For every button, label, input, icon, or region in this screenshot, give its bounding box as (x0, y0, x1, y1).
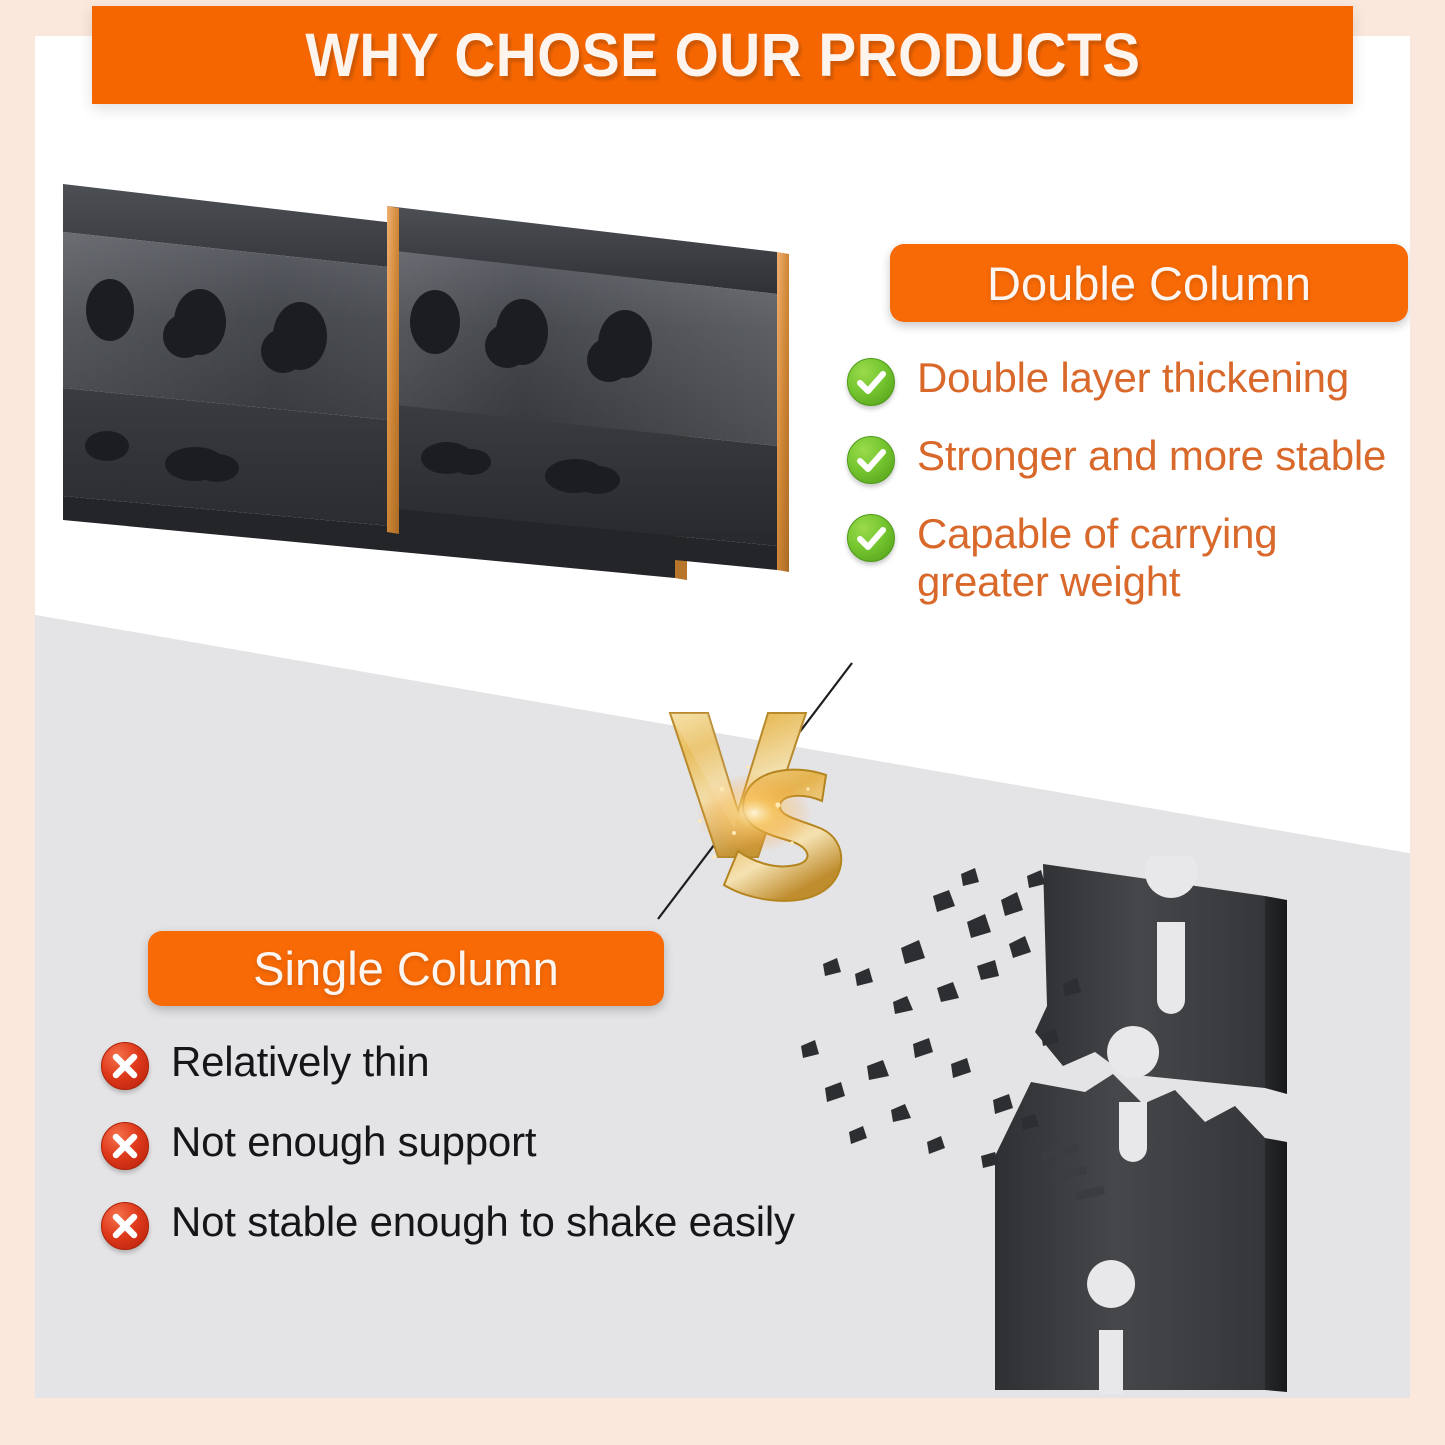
single-column-feature-list: Relatively thin Not enough support Not s… (101, 1038, 891, 1278)
list-item-label: Relatively thin (171, 1038, 429, 1086)
cross-circle-icon (101, 1122, 149, 1170)
list-item: Stronger and more stable (847, 432, 1410, 484)
check-circle-icon (847, 514, 895, 562)
list-item: Relatively thin (101, 1038, 891, 1090)
list-item: Not enough support (101, 1118, 891, 1170)
list-item-label: Not enough support (171, 1118, 536, 1166)
header-banner: WHY CHOSE OUR PRODUCTS (92, 6, 1353, 104)
list-item: Capable of carrying greater weight (847, 510, 1410, 606)
single-column-badge: Single Column (148, 931, 664, 1006)
single-column-badge-label: Single Column (253, 941, 559, 996)
double-column-steel-posts-photo (35, 146, 835, 616)
list-item-label: Double layer thickening (917, 354, 1349, 402)
double-column-feature-list: Double layer thickening Stronger and mor… (847, 354, 1410, 632)
list-item: Not stable enough to shake easily (101, 1198, 891, 1250)
page-title: WHY CHOSE OUR PRODUCTS (305, 20, 1140, 90)
double-column-badge-label: Double Column (987, 256, 1311, 311)
vs-gold-emblem (630, 661, 910, 921)
check-circle-icon (847, 436, 895, 484)
double-column-badge: Double Column (890, 244, 1408, 322)
list-item-label: Capable of carrying greater weight (917, 510, 1357, 606)
list-item: Double layer thickening (847, 354, 1410, 406)
list-item-label: Not stable enough to shake easily (171, 1198, 795, 1246)
check-circle-icon (847, 358, 895, 406)
cross-circle-icon (101, 1042, 149, 1090)
list-item-label: Stronger and more stable (917, 432, 1386, 480)
infographic-panel: Double Column Double layer thickening St… (35, 36, 1410, 1398)
cross-circle-icon (101, 1202, 149, 1250)
steel-post-right (387, 206, 789, 572)
